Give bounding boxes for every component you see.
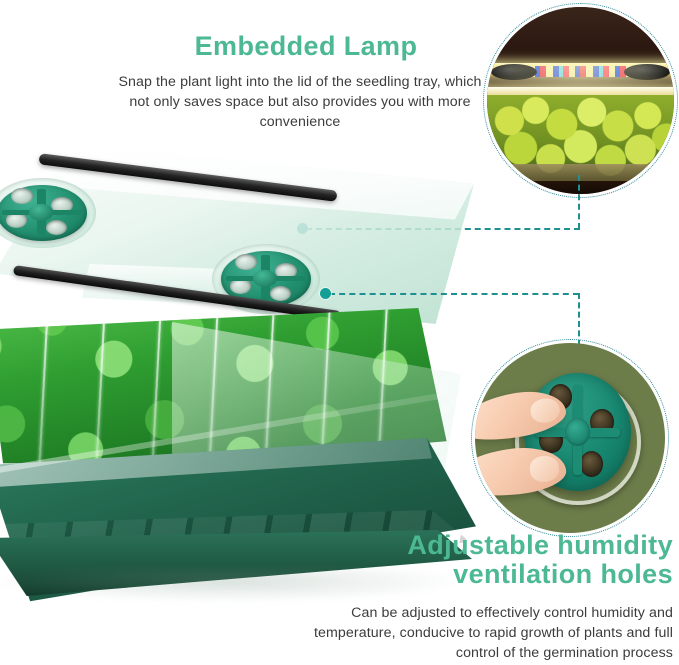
soil-row xyxy=(487,164,674,181)
fingernail xyxy=(529,455,561,483)
vent-cap-hub xyxy=(253,270,277,287)
vent-cap-assembly-left[interactable] xyxy=(0,178,96,248)
vent-hole-icon xyxy=(580,451,603,477)
vent-hole-icon xyxy=(270,286,292,302)
embedded-lamp-heading: Embedded Lamp xyxy=(130,32,482,61)
fingernail xyxy=(529,396,561,425)
vent-leader-horizontal xyxy=(329,293,579,295)
lamp-scene-floor xyxy=(487,181,674,194)
vent-cap-hub xyxy=(29,204,53,221)
embedded-lamp-description: Snap the plant light into the lid of the… xyxy=(118,72,482,132)
vent-hole-icon xyxy=(11,188,33,204)
ventilation-holes-description: Can be adjusted to effectively control h… xyxy=(273,603,673,663)
embedded-lamp-inset-photo xyxy=(487,7,674,194)
ventilation-holes-heading: Adjustable humidity ventilation holes xyxy=(281,531,673,589)
ventilation-holes-inset-photo xyxy=(475,343,665,533)
led-lamp-scene xyxy=(487,7,674,194)
vent-cap-disc-left[interactable] xyxy=(0,185,87,241)
vent-hole-icon xyxy=(46,220,68,236)
infographic-canvas: Embedded Lamp Snap the plant light into … xyxy=(0,0,679,665)
vent-hole-icon xyxy=(235,254,257,270)
vent-callout-dot xyxy=(320,288,331,299)
lamp-leader-vertical xyxy=(578,175,580,229)
lamp-dark-background xyxy=(487,7,674,69)
vent-adjust-scene xyxy=(475,343,665,533)
vent-cap-hub xyxy=(565,418,591,446)
